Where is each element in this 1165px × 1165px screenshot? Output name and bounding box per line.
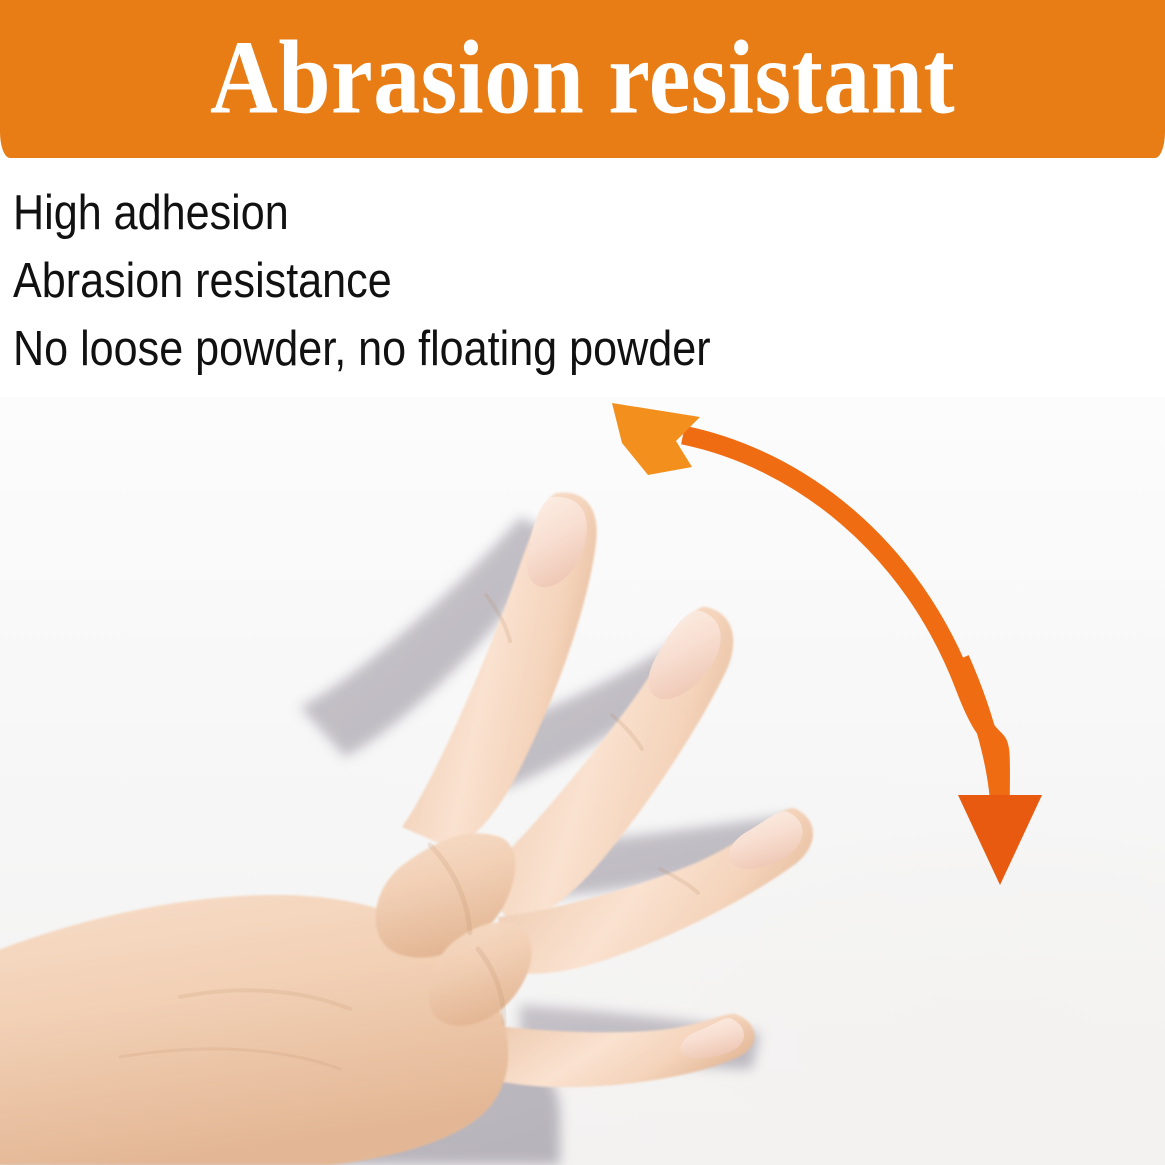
product-demo-photo bbox=[0, 397, 1165, 1165]
hand-illustration bbox=[0, 397, 1165, 1165]
feature-line-1: High adhesion bbox=[13, 179, 1027, 247]
page-title: Abrasion resistant bbox=[210, 24, 955, 129]
feature-line-3: No loose powder, no floating powder bbox=[13, 315, 1027, 383]
hand-skin-group bbox=[0, 397, 1165, 1165]
feature-list: High adhesion Abrasion resistance No loo… bbox=[0, 158, 1165, 397]
header-banner: Abrasion resistant bbox=[0, 0, 1165, 158]
product-feature-banner: Abrasion resistant High adhesion Abrasio… bbox=[0, 0, 1165, 1165]
feature-line-2: Abrasion resistance bbox=[13, 247, 1027, 315]
